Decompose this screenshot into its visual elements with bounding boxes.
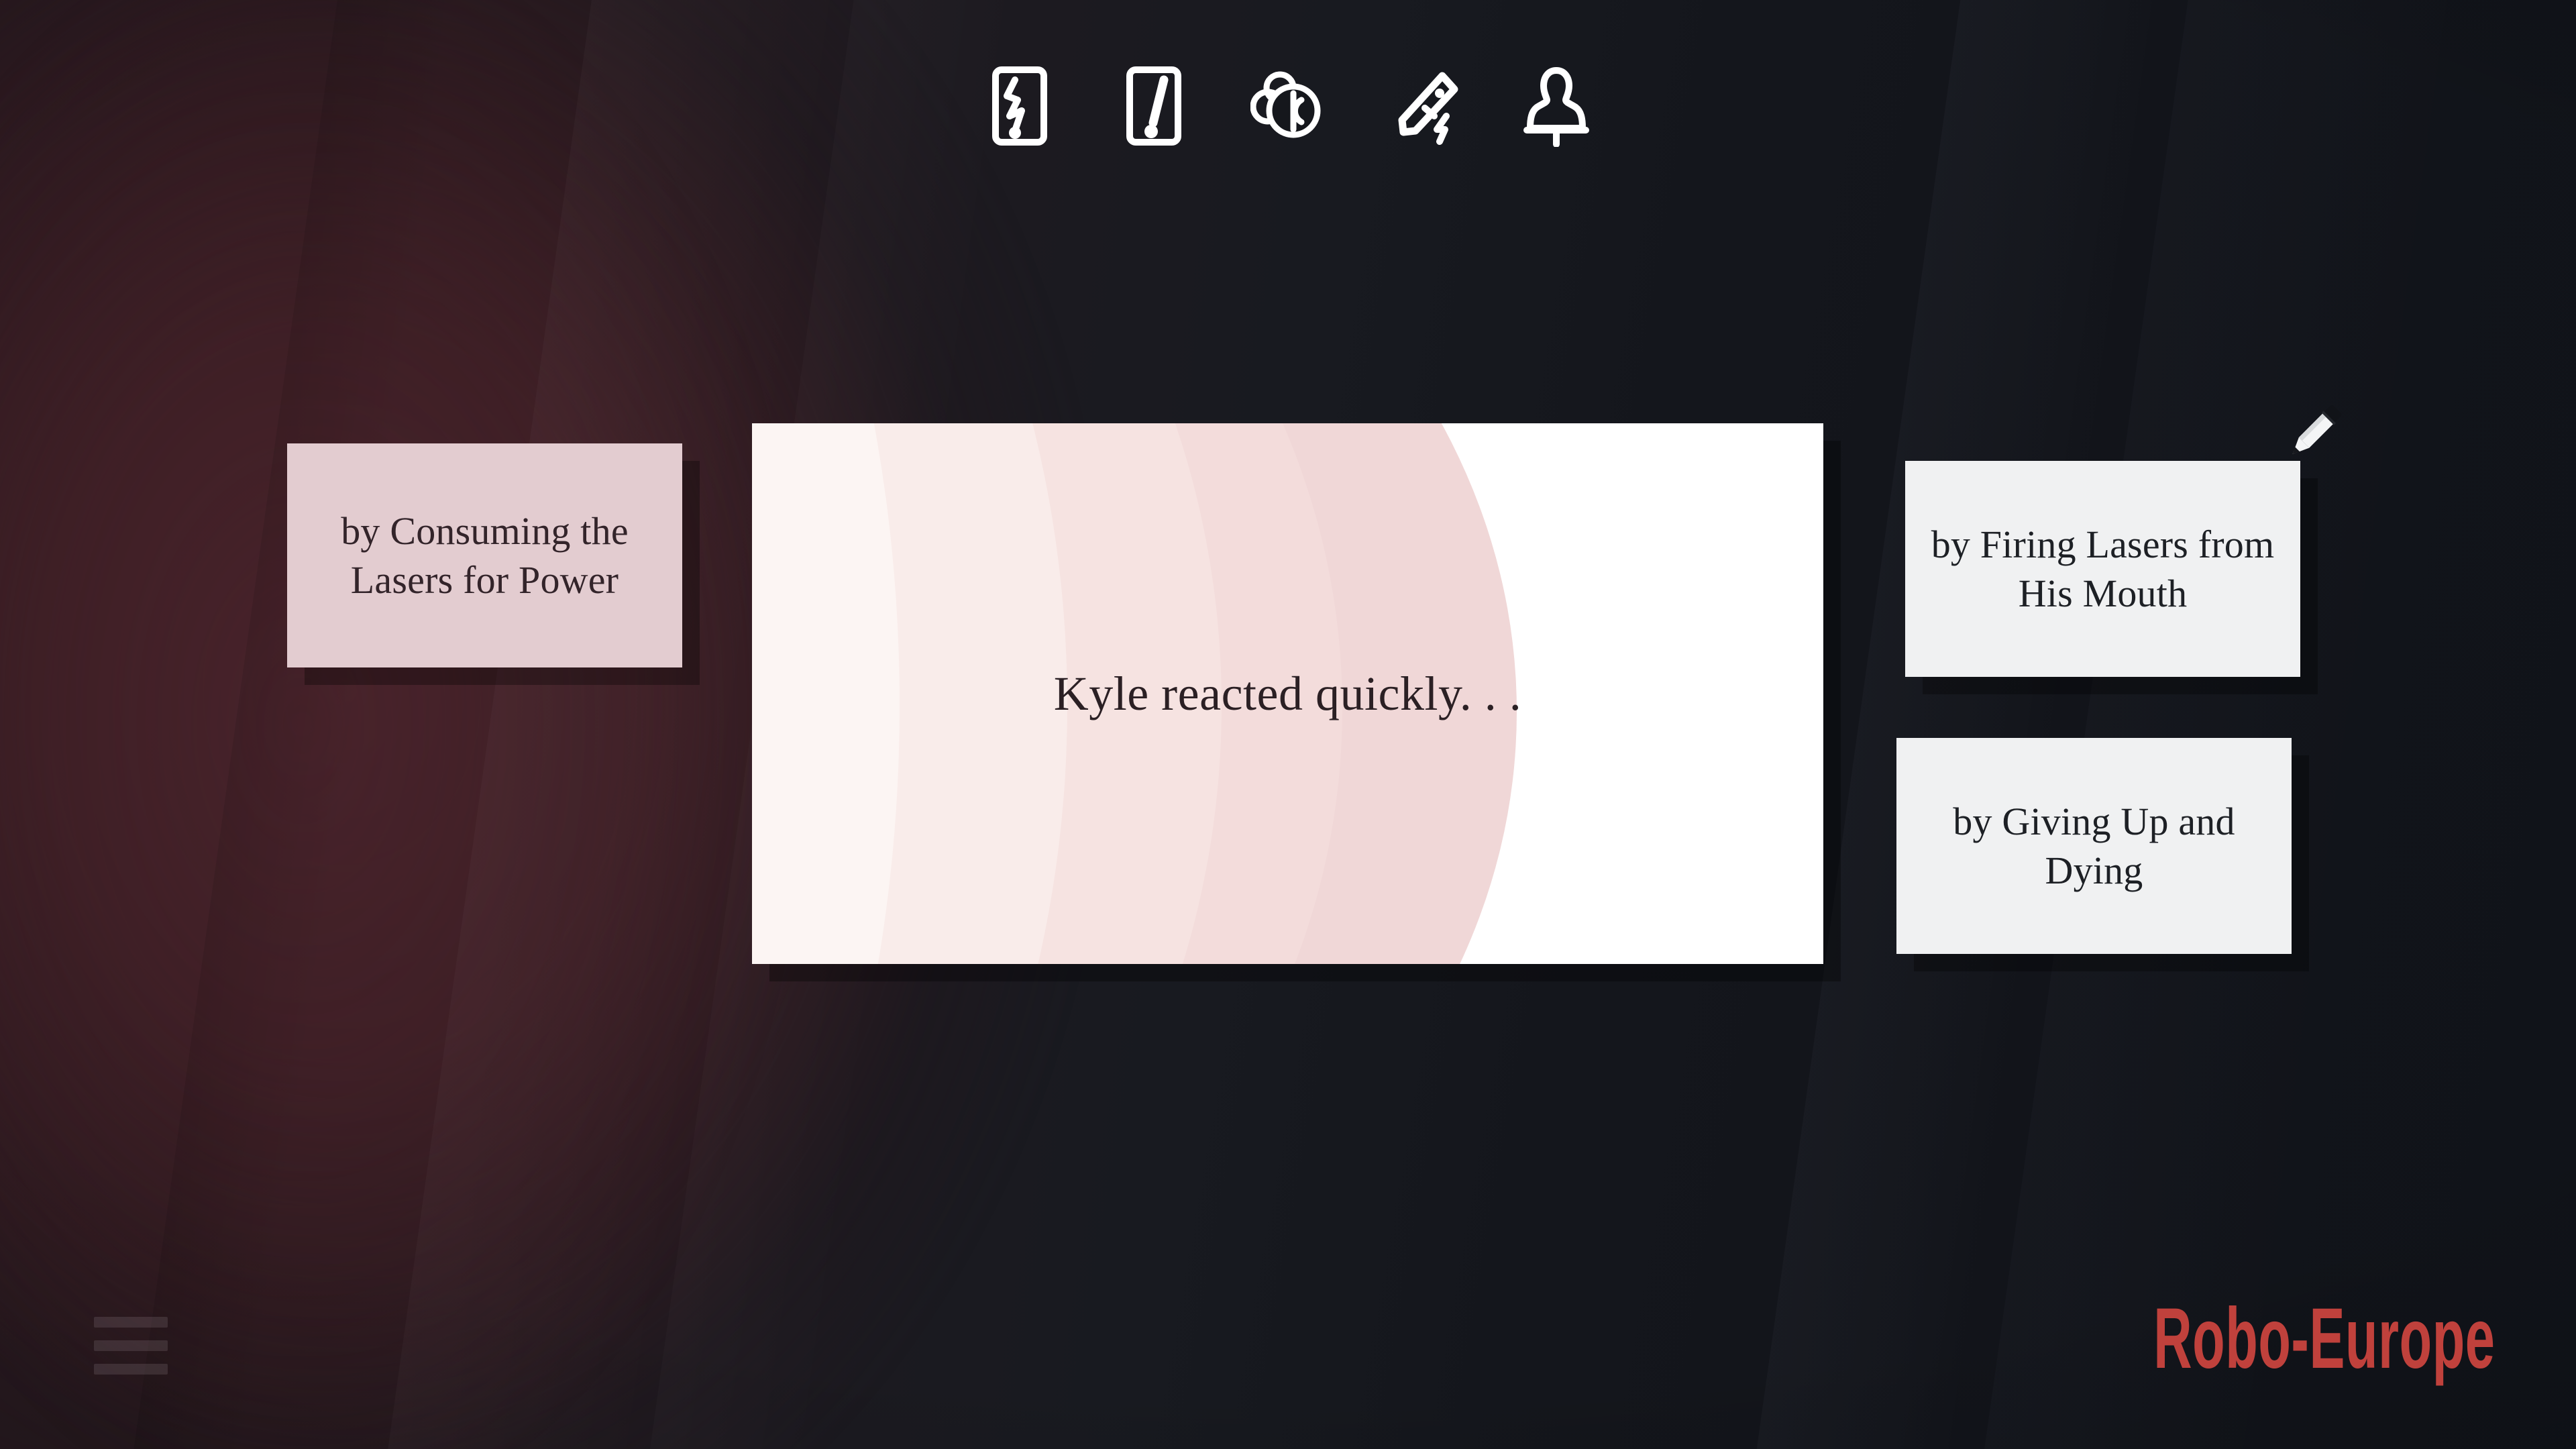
decorative-ring-4: [752, 423, 1067, 964]
person-bust-icon[interactable]: [1516, 62, 1597, 150]
choice-card-left[interactable]: by Consuming the Lasers for Power: [287, 443, 682, 667]
choice-label: by Consuming the Lasers for Power: [287, 506, 682, 604]
game-screen: by Consuming the Lasers for Power Kyle r…: [0, 0, 2576, 1449]
hamburger-bar: [94, 1364, 168, 1375]
hamburger-bar: [94, 1317, 168, 1328]
cracked-phone-icon[interactable]: [979, 62, 1060, 150]
decorative-ring-5: [752, 423, 900, 964]
status-icon-bar: [0, 62, 2576, 150]
choice-card-right-top[interactable]: by Firing Lasers from His Mouth: [1905, 461, 2300, 677]
key-lightning-icon[interactable]: [1382, 62, 1462, 150]
hamburger-bar: [94, 1340, 168, 1351]
choice-card-right-bottom[interactable]: by Giving Up and Dying: [1896, 738, 2292, 954]
story-passage-text: Kyle reacted quickly. . .: [1054, 665, 1522, 722]
hamburger-menu-button[interactable]: [94, 1317, 168, 1375]
game-title: Robo-Europe: [2154, 1296, 2495, 1382]
choice-label: by Firing Lasers from His Mouth: [1905, 520, 2300, 618]
phone-exclamation-icon[interactable]: [1114, 62, 1194, 150]
coins-cent-icon[interactable]: [1248, 62, 1328, 150]
choice-label: by Giving Up and Dying: [1896, 797, 2292, 895]
story-passage-card[interactable]: Kyle reacted quickly. . .: [752, 423, 1823, 964]
